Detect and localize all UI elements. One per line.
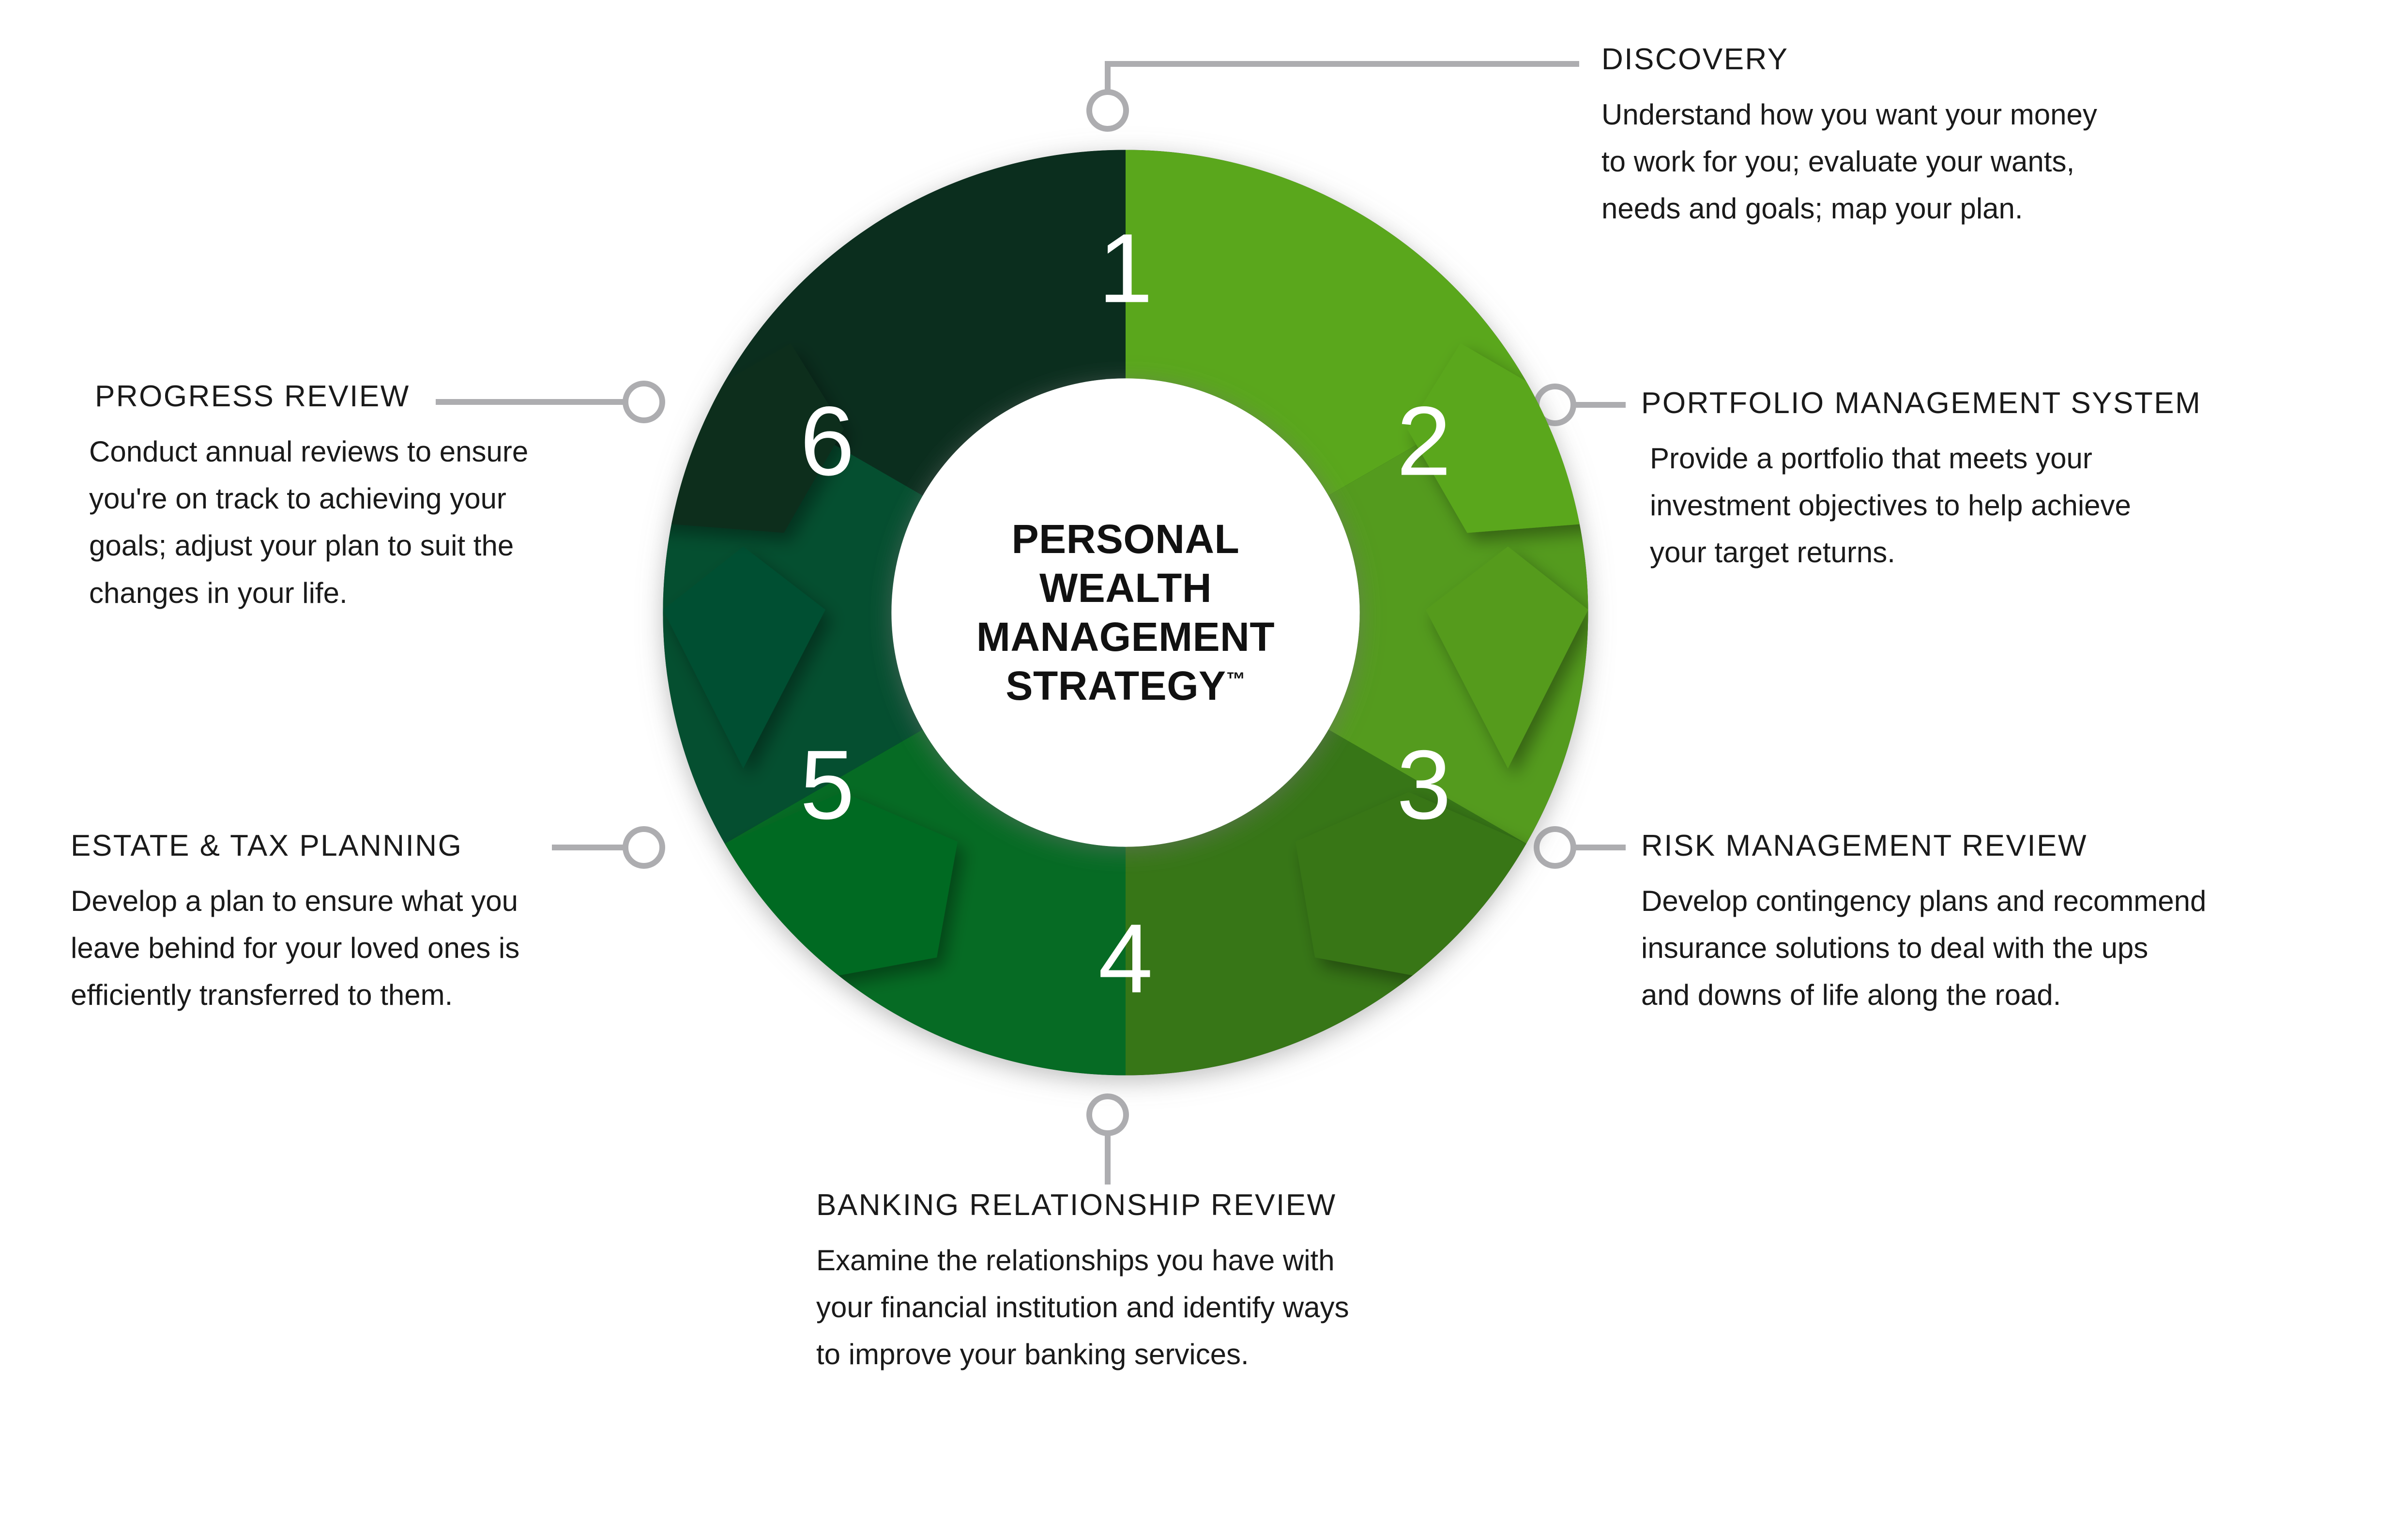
callout-line: insurance solutions to deal with the ups xyxy=(1641,924,2401,971)
callout-line: to work for you; evaluate your wants, xyxy=(1601,138,2357,185)
callout-line: leave behind for your loved ones is xyxy=(71,924,632,971)
segment-number-6: 6 xyxy=(800,386,854,496)
callout-estate-and-tax-planning-title: ESTATE & TAX PLANNING xyxy=(71,831,632,861)
callout-banking-relationship-review-body: Examine the relationships you have with … xyxy=(816,1237,1591,1378)
callout-line: changes in your life. xyxy=(89,569,656,616)
infographic-canvas: 1 2 3 4 5 6 PERSONAL WEALTH MANAGEMENT S… xyxy=(0,0,2408,1539)
callout-line: goals; adjust your plan to suit the xyxy=(89,522,656,569)
callout-portfolio-management-system-body: Provide a portfolio that meets your inve… xyxy=(1641,435,2396,576)
callout-portfolio-management-system-title: PORTFOLIO MANAGEMENT SYSTEM xyxy=(1641,388,2396,418)
callout-banking-relationship-review[interactable]: BANKING RELATIONSHIP REVIEW Examine the … xyxy=(816,1190,1591,1378)
callout-portfolio-management-system[interactable]: PORTFOLIO MANAGEMENT SYSTEM Provide a po… xyxy=(1641,388,2396,576)
callout-line: Understand how you want your money xyxy=(1601,91,2357,138)
callout-line: your target returns. xyxy=(1650,529,2396,576)
callout-line: efficiently transferred to them. xyxy=(71,971,632,1018)
callout-progress-review-title: PROGRESS REVIEW xyxy=(95,382,656,412)
segment-number-2: 2 xyxy=(1397,386,1451,496)
callout-line: Examine the relationships you have with xyxy=(816,1237,1591,1284)
callout-risk-management-review[interactable]: RISK MANAGEMENT REVIEW Develop contingen… xyxy=(1641,831,2401,1019)
cycle-donut-chart: 1 2 3 4 5 6 xyxy=(654,140,1598,1085)
callout-line: investment objectives to help achieve xyxy=(1650,482,2396,529)
callout-discovery-body: Understand how you want your money to wo… xyxy=(1601,91,2357,232)
segment-number-4: 4 xyxy=(1098,903,1153,1013)
callout-line: needs and goals; map your plan. xyxy=(1601,185,2357,232)
callout-estate-and-tax-planning[interactable]: ESTATE & TAX PLANNING Develop a plan to … xyxy=(71,831,632,1019)
callout-line: and downs of life along the road. xyxy=(1641,971,2401,1018)
callout-estate-and-tax-planning-body: Develop a plan to ensure what you leave … xyxy=(71,877,632,1019)
callout-line: Develop a plan to ensure what you xyxy=(71,877,632,924)
callout-banking-relationship-review-title: BANKING RELATIONSHIP REVIEW xyxy=(816,1190,1591,1220)
callout-risk-management-review-title: RISK MANAGEMENT REVIEW xyxy=(1641,831,2401,861)
segment-number-3: 3 xyxy=(1397,729,1451,839)
callout-line: you're on track to achieving your xyxy=(89,475,656,522)
donut-hub xyxy=(891,378,1359,846)
callout-discovery-title: DISCOVERY xyxy=(1601,45,2357,75)
callout-discovery[interactable]: DISCOVERY Understand how you want your m… xyxy=(1601,45,2357,232)
callout-risk-management-review-body: Develop contingency plans and recommend … xyxy=(1641,877,2401,1019)
callout-line: Provide a portfolio that meets your xyxy=(1650,435,2396,482)
callout-line: your financial institution and identify … xyxy=(816,1284,1591,1331)
callout-progress-review-body: Conduct annual reviews to ensure you're … xyxy=(89,428,656,616)
callout-line: Develop contingency plans and recommend xyxy=(1641,877,2401,924)
callout-line: to improve your banking services. xyxy=(816,1331,1591,1378)
callout-line: Conduct annual reviews to ensure xyxy=(89,428,656,475)
segment-number-5: 5 xyxy=(800,729,854,839)
segment-number-1: 1 xyxy=(1098,213,1153,323)
callout-progress-review[interactable]: PROGRESS REVIEW Conduct annual reviews t… xyxy=(95,382,656,616)
